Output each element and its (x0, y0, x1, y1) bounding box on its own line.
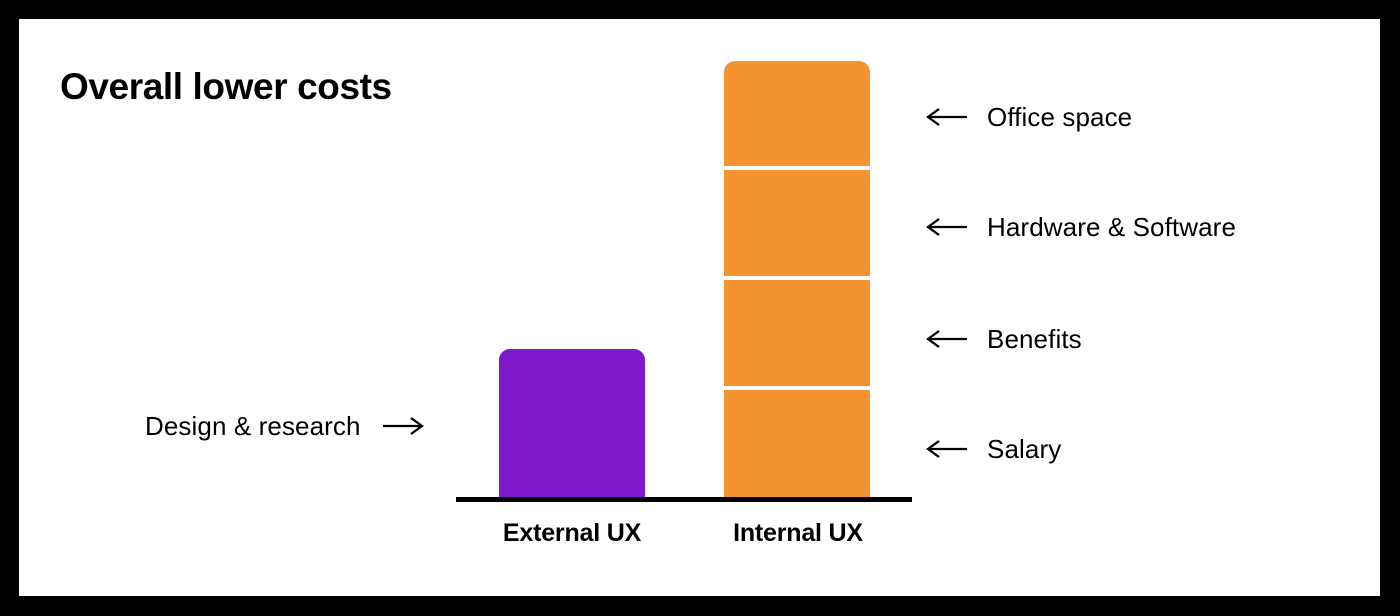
callout-benefits-label: Benefits (987, 326, 1082, 352)
slide-canvas: Overall lower costs External UX Internal… (19, 19, 1380, 596)
arrow-left-icon (926, 328, 968, 350)
callout-design-research-label: Design & research (145, 413, 361, 439)
stacked-bar-chart: External UX Internal UX Design & researc… (19, 19, 1380, 596)
bar-segment-benefits[interactable] (724, 280, 870, 386)
callout-benefits: Benefits (926, 326, 1082, 352)
axis-label-internal-ux: Internal UX (678, 519, 918, 548)
bar-segment-design-research[interactable] (499, 349, 645, 497)
bar-segment-salary[interactable] (724, 390, 870, 497)
callout-office-space: Office space (926, 104, 1132, 130)
callout-hardware-software: Hardware & Software (926, 214, 1236, 240)
callout-hardware-software-label: Hardware & Software (987, 214, 1236, 240)
bar-column-external-ux[interactable] (499, 349, 645, 497)
bar-segment-hardware-software[interactable] (724, 170, 870, 276)
arrow-left-icon (926, 106, 968, 128)
callout-salary-label: Salary (987, 436, 1061, 462)
axis-baseline (456, 497, 912, 502)
arrow-right-icon (382, 415, 424, 437)
slide-frame: Overall lower costs External UX Internal… (0, 0, 1400, 616)
callout-design-research: Design & research (145, 413, 424, 439)
callout-salary: Salary (926, 436, 1061, 462)
bar-column-internal-ux[interactable] (724, 61, 870, 497)
arrow-left-icon (926, 216, 968, 238)
bar-segment-office-space[interactable] (724, 61, 870, 166)
callout-office-space-label: Office space (987, 104, 1132, 130)
axis-label-external-ux: External UX (452, 519, 692, 548)
arrow-left-icon (926, 438, 968, 460)
